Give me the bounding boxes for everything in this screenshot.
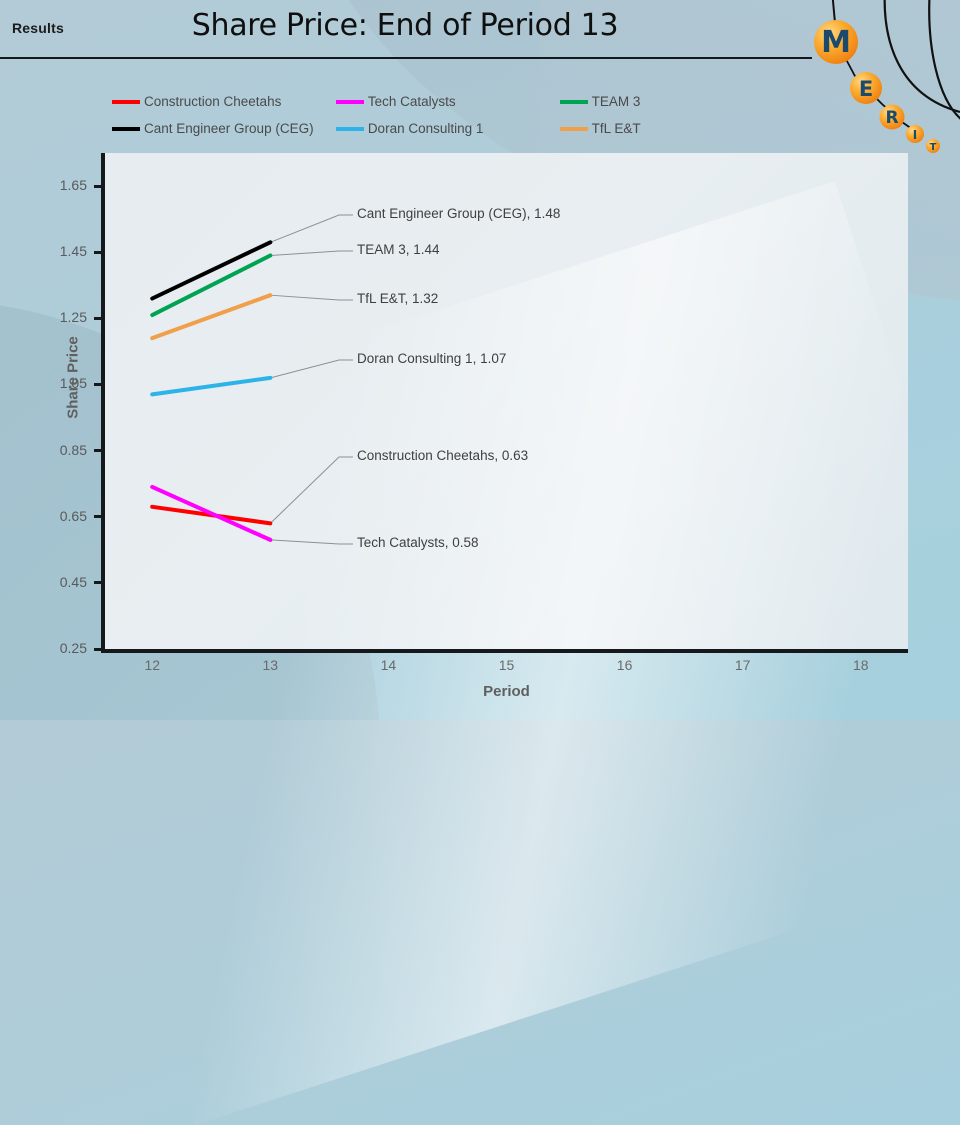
y-tick-label: 0.25 [27,640,87,656]
merit-logo: M E R I T [790,0,960,160]
y-tick-mark [94,581,102,584]
legend-swatch-icon [112,100,140,104]
legend-swatch-icon [560,127,588,131]
data-point-label: Cant Engineer Group (CEG), 1.48 [357,206,560,221]
data-label-leader-line [270,215,353,242]
data-point-label: TfL E&T, 1.32 [357,291,438,306]
legend-row: Construction Cheetahs Tech Catalysts TEA… [112,88,712,115]
svg-text:R: R [885,108,898,128]
legend-item-tfl-et[interactable]: TfL E&T [560,121,712,136]
legend-swatch-icon [112,127,140,131]
legend-item-construction-cheetahs[interactable]: Construction Cheetahs [112,94,336,109]
legend-label: Cant Engineer Group (CEG) [144,121,314,136]
y-tick-label: 1.65 [27,177,87,193]
y-tick-label: 0.65 [27,508,87,524]
data-point-label: Tech Catalysts, 0.58 [357,535,479,550]
legend-row: Cant Engineer Group (CEG) Doran Consulti… [112,115,712,142]
x-tick-label: 17 [723,657,763,673]
data-label-leader-line [270,457,353,523]
page-title: Share Price: End of Period 13 [0,8,810,43]
y-tick-mark [94,449,102,452]
legend-item-team-3[interactable]: TEAM 3 [560,94,712,109]
legend-item-cant-engineer-group[interactable]: Cant Engineer Group (CEG) [112,121,336,136]
series-line[interactable] [152,378,270,395]
x-tick-label: 12 [132,657,172,673]
legend-swatch-icon [336,127,364,131]
series-line[interactable] [152,487,270,540]
chart-plot-area: 0.250.450.650.851.051.251.451.65 1213141… [105,153,908,649]
data-label-leader-line [270,540,353,544]
y-tick-label: 0.85 [27,442,87,458]
legend-label: TEAM 3 [592,94,641,109]
series-lines [105,153,908,649]
legend-label: Tech Catalysts [368,94,456,109]
data-point-label: Doran Consulting 1, 1.07 [357,351,506,366]
legend-item-doran-consulting-1[interactable]: Doran Consulting 1 [336,121,560,136]
y-axis-title: Share Price [65,318,82,438]
legend-label: TfL E&T [592,121,641,136]
chart-legend: Construction Cheetahs Tech Catalysts TEA… [112,88,712,142]
data-point-label: TEAM 3, 1.44 [357,242,440,257]
svg-text:E: E [859,77,873,101]
y-tick-mark [94,515,102,518]
data-point-label: Construction Cheetahs, 0.63 [357,448,528,463]
y-tick-label: 1.45 [27,243,87,259]
legend-item-tech-catalysts[interactable]: Tech Catalysts [336,94,560,109]
x-axis-title: Period [105,683,908,700]
legend-swatch-icon [336,100,364,104]
y-tick-label: 0.45 [27,574,87,590]
series-line[interactable] [152,256,270,316]
data-label-leader-line [270,295,353,300]
data-label-leader-line [270,360,353,378]
x-tick-label: 14 [368,657,408,673]
legend-label: Construction Cheetahs [144,94,281,109]
svg-text:I: I [913,128,917,142]
legend-swatch-icon [560,100,588,104]
svg-text:T: T [930,142,937,153]
series-line[interactable] [152,295,270,338]
y-tick-mark [94,383,102,386]
header-divider [0,57,812,59]
y-tick-mark [94,648,102,651]
x-tick-label: 16 [605,657,645,673]
x-tick-label: 13 [250,657,290,673]
y-tick-mark [94,251,102,254]
x-tick-label: 18 [841,657,881,673]
y-tick-mark [94,185,102,188]
series-line[interactable] [152,242,270,298]
svg-text:M: M [821,25,851,60]
y-tick-mark [94,317,102,320]
x-tick-label: 15 [487,657,527,673]
data-label-leader-line [270,251,353,256]
x-axis-line [101,649,908,653]
legend-label: Doran Consulting 1 [368,121,484,136]
